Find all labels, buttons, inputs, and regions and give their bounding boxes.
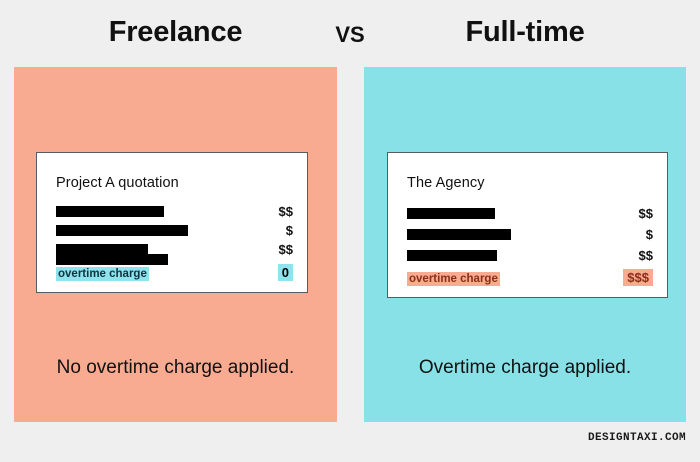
watermark: DESIGNTAXI.COM [588,432,686,444]
redacted-bar [407,250,497,261]
line-item-price: $ [646,227,653,242]
redacted-bar [56,225,188,236]
overtime-charge-label: overtime charge [407,272,500,286]
line-item-price: $$ [639,206,653,221]
overtime-charge-label: overtime charge [56,267,149,281]
overtime-charge-value: $$$ [623,269,653,286]
line-item-price: $ [286,223,293,238]
line-item-row: $$ [407,248,653,269]
freelance-quote-card: Project A quotation $$ $ $$ overtime cha… [36,152,308,293]
freelance-panel: Project A quotation $$ $ $$ overtime cha… [14,67,337,422]
line-item-row: $ [56,223,293,242]
redacted-bar [56,206,164,217]
freelance-line-items: $$ $ $$ [56,204,293,267]
line-item-price: $$ [279,242,293,257]
freelance-card-title: Project A quotation [56,175,179,191]
fulltime-quote-card: The Agency $$ $ $$ overtime charge $$$ [387,152,668,298]
header: Freelance VS Full-time [0,0,700,67]
line-item-price: $$ [279,204,293,219]
line-item-price: $$ [639,248,653,263]
fulltime-line-items: $$ $ $$ [407,206,653,269]
fulltime-card-title: The Agency [407,175,485,191]
fulltime-caption: Overtime charge applied. [364,357,686,379]
fulltime-panel: The Agency $$ $ $$ overtime charge $$$ O… [364,67,686,422]
overtime-charge-value: 0 [278,264,293,281]
fulltime-overtime-row: overtime charge $$$ [407,269,653,287]
line-item-row: $$ [407,206,653,227]
redacted-bar [407,208,495,219]
line-item-row: $ [407,227,653,248]
freelance-overtime-row: overtime charge 0 [56,264,293,282]
header-title-fulltime: Full-time [364,16,686,49]
header-title-freelance: Freelance [14,16,337,49]
redacted-bar [407,229,511,240]
line-item-row: $$ [56,204,293,223]
freelance-caption: No overtime charge applied. [14,357,337,379]
